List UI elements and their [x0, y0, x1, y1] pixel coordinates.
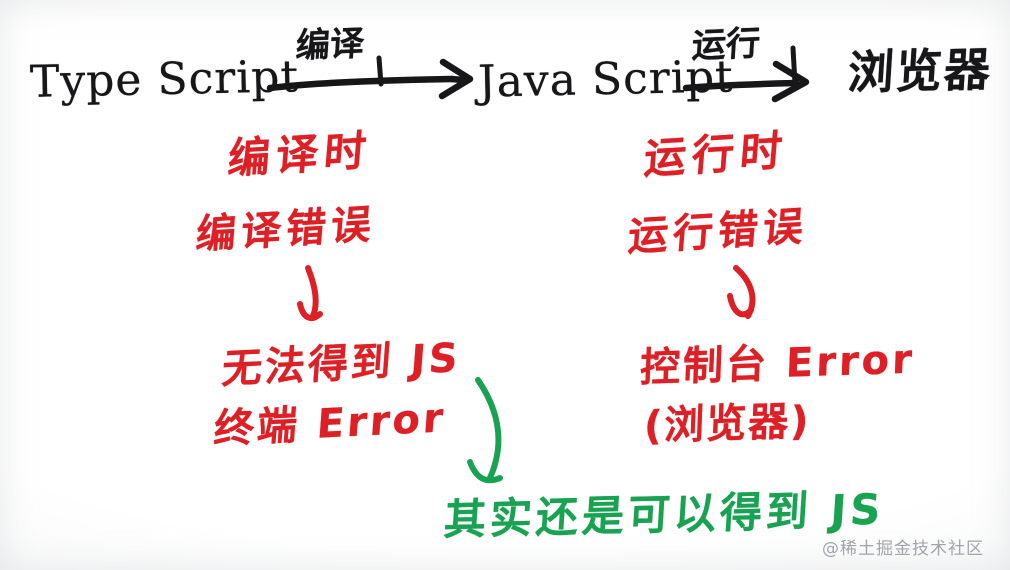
- runtime-result-browser: (浏览器): [643, 401, 811, 446]
- runtime-result-console-error: 控制台 Error: [639, 340, 915, 389]
- node-browser: 浏览器: [847, 46, 994, 96]
- watermark: @稀土掘金技术社区: [822, 534, 984, 559]
- edge-label-run: 运行: [691, 27, 761, 64]
- note-text-still-get-js: 其实还是可以得到 JS: [443, 489, 886, 542]
- runtime-heading: 运行时: [642, 130, 789, 181]
- runtime-error-label: 运行错误: [627, 207, 810, 258]
- whiteboard-canvas: Type Script 编译 Java Script 运行 浏览器 编译时 编译…: [0, 0, 1010, 570]
- compile-error-label: 编译错误: [195, 205, 378, 256]
- ink-text-layer: Type Script 编译 Java Script 运行 浏览器 编译时 编译…: [0, 0, 1010, 570]
- node-typescript: Type Script: [30, 55, 300, 105]
- edge-label-compile: 编译: [295, 27, 365, 64]
- compile-result-no-js: 无法得到 JS: [221, 338, 462, 390]
- compile-result-terminal-error: 终端 Error: [213, 398, 448, 450]
- compile-time-heading: 编译时: [226, 130, 373, 181]
